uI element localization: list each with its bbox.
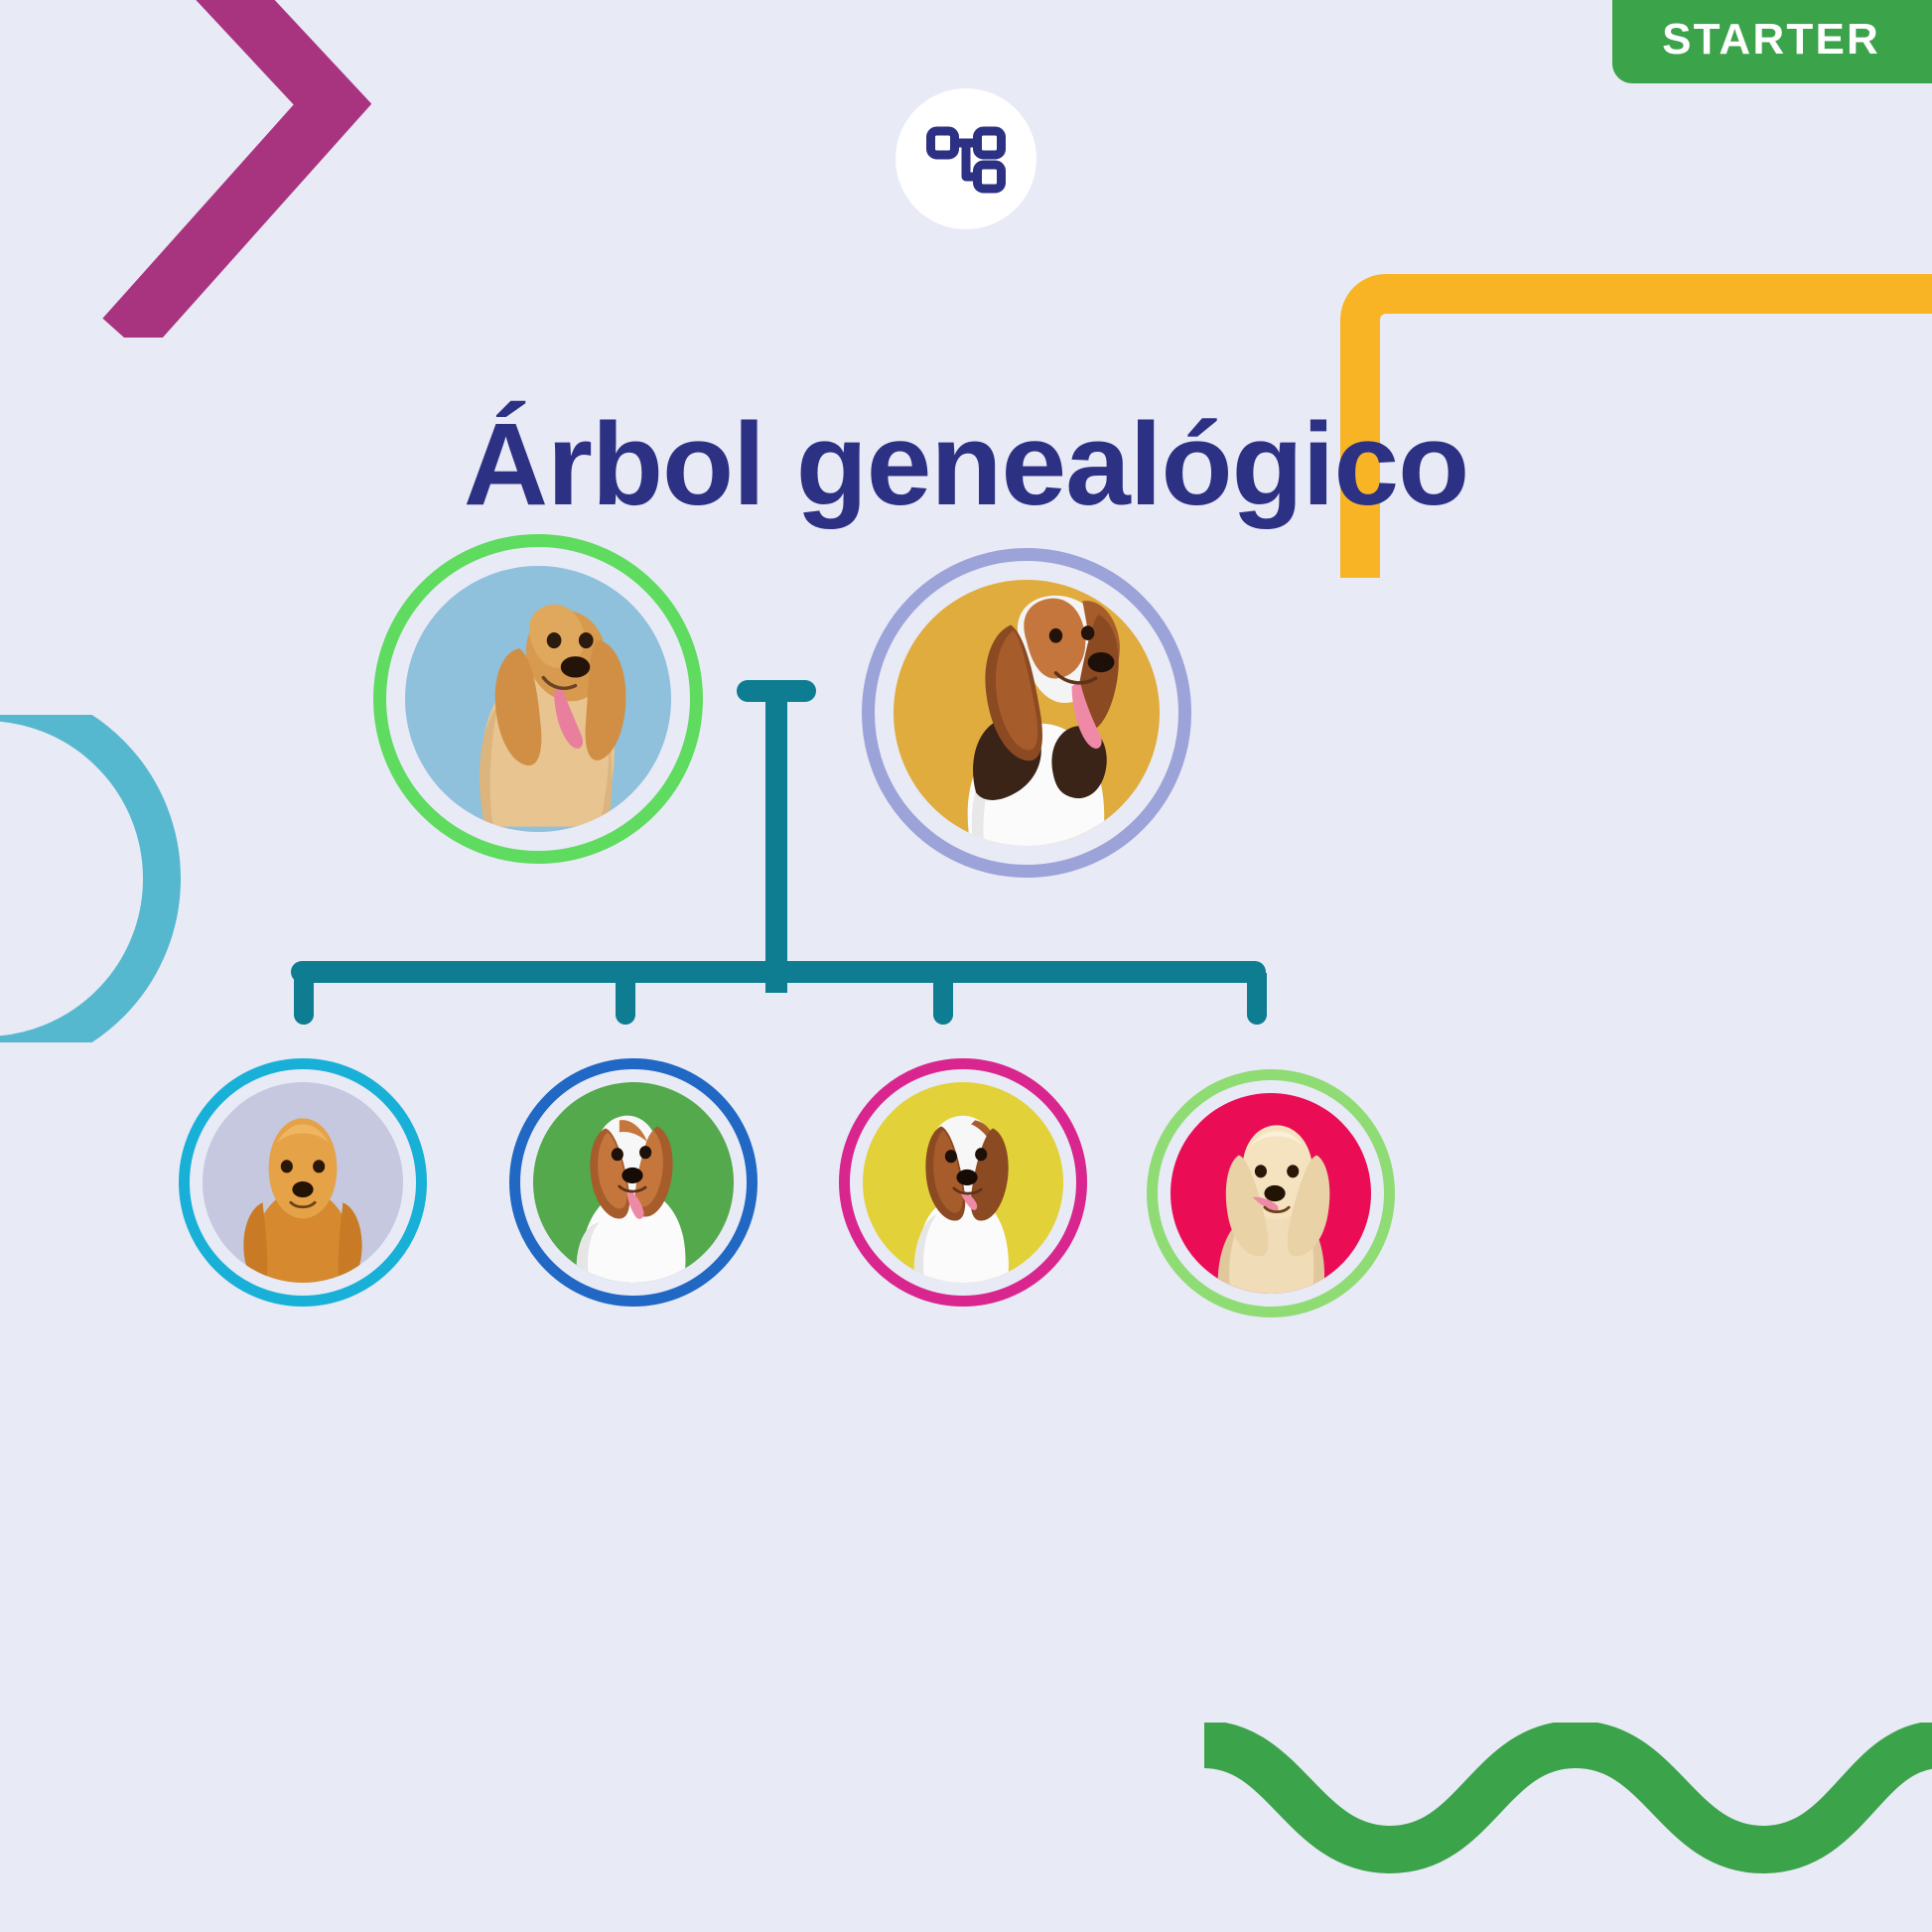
avatar-photo-parent-2 [894,580,1160,846]
avatar-child-3[interactable] [839,1058,1087,1307]
family-tree [0,0,1932,1932]
avatar-photo-child-4 [1171,1093,1371,1294]
connector-stub-child-1 [294,973,314,1025]
avatar-photo-parent-1 [405,566,671,832]
canvas: STARTER Árbol genealógico [0,0,1932,1932]
connector-children-bus [291,961,1266,983]
connector-stub-child-4 [1247,973,1267,1025]
avatar-photo-child-3 [863,1082,1063,1283]
avatar-child-2[interactable] [509,1058,758,1307]
connector-stub-child-3 [933,973,953,1025]
avatar-child-1[interactable] [179,1058,427,1307]
avatar-photo-child-1 [203,1082,403,1283]
avatar-child-4[interactable] [1147,1069,1395,1317]
connector-stub-child-2 [616,973,635,1025]
avatar-photo-child-2 [533,1082,734,1283]
connector-parent-stem [765,685,787,993]
avatar-parent-2[interactable] [862,548,1191,878]
avatar-parent-1[interactable] [373,534,703,864]
